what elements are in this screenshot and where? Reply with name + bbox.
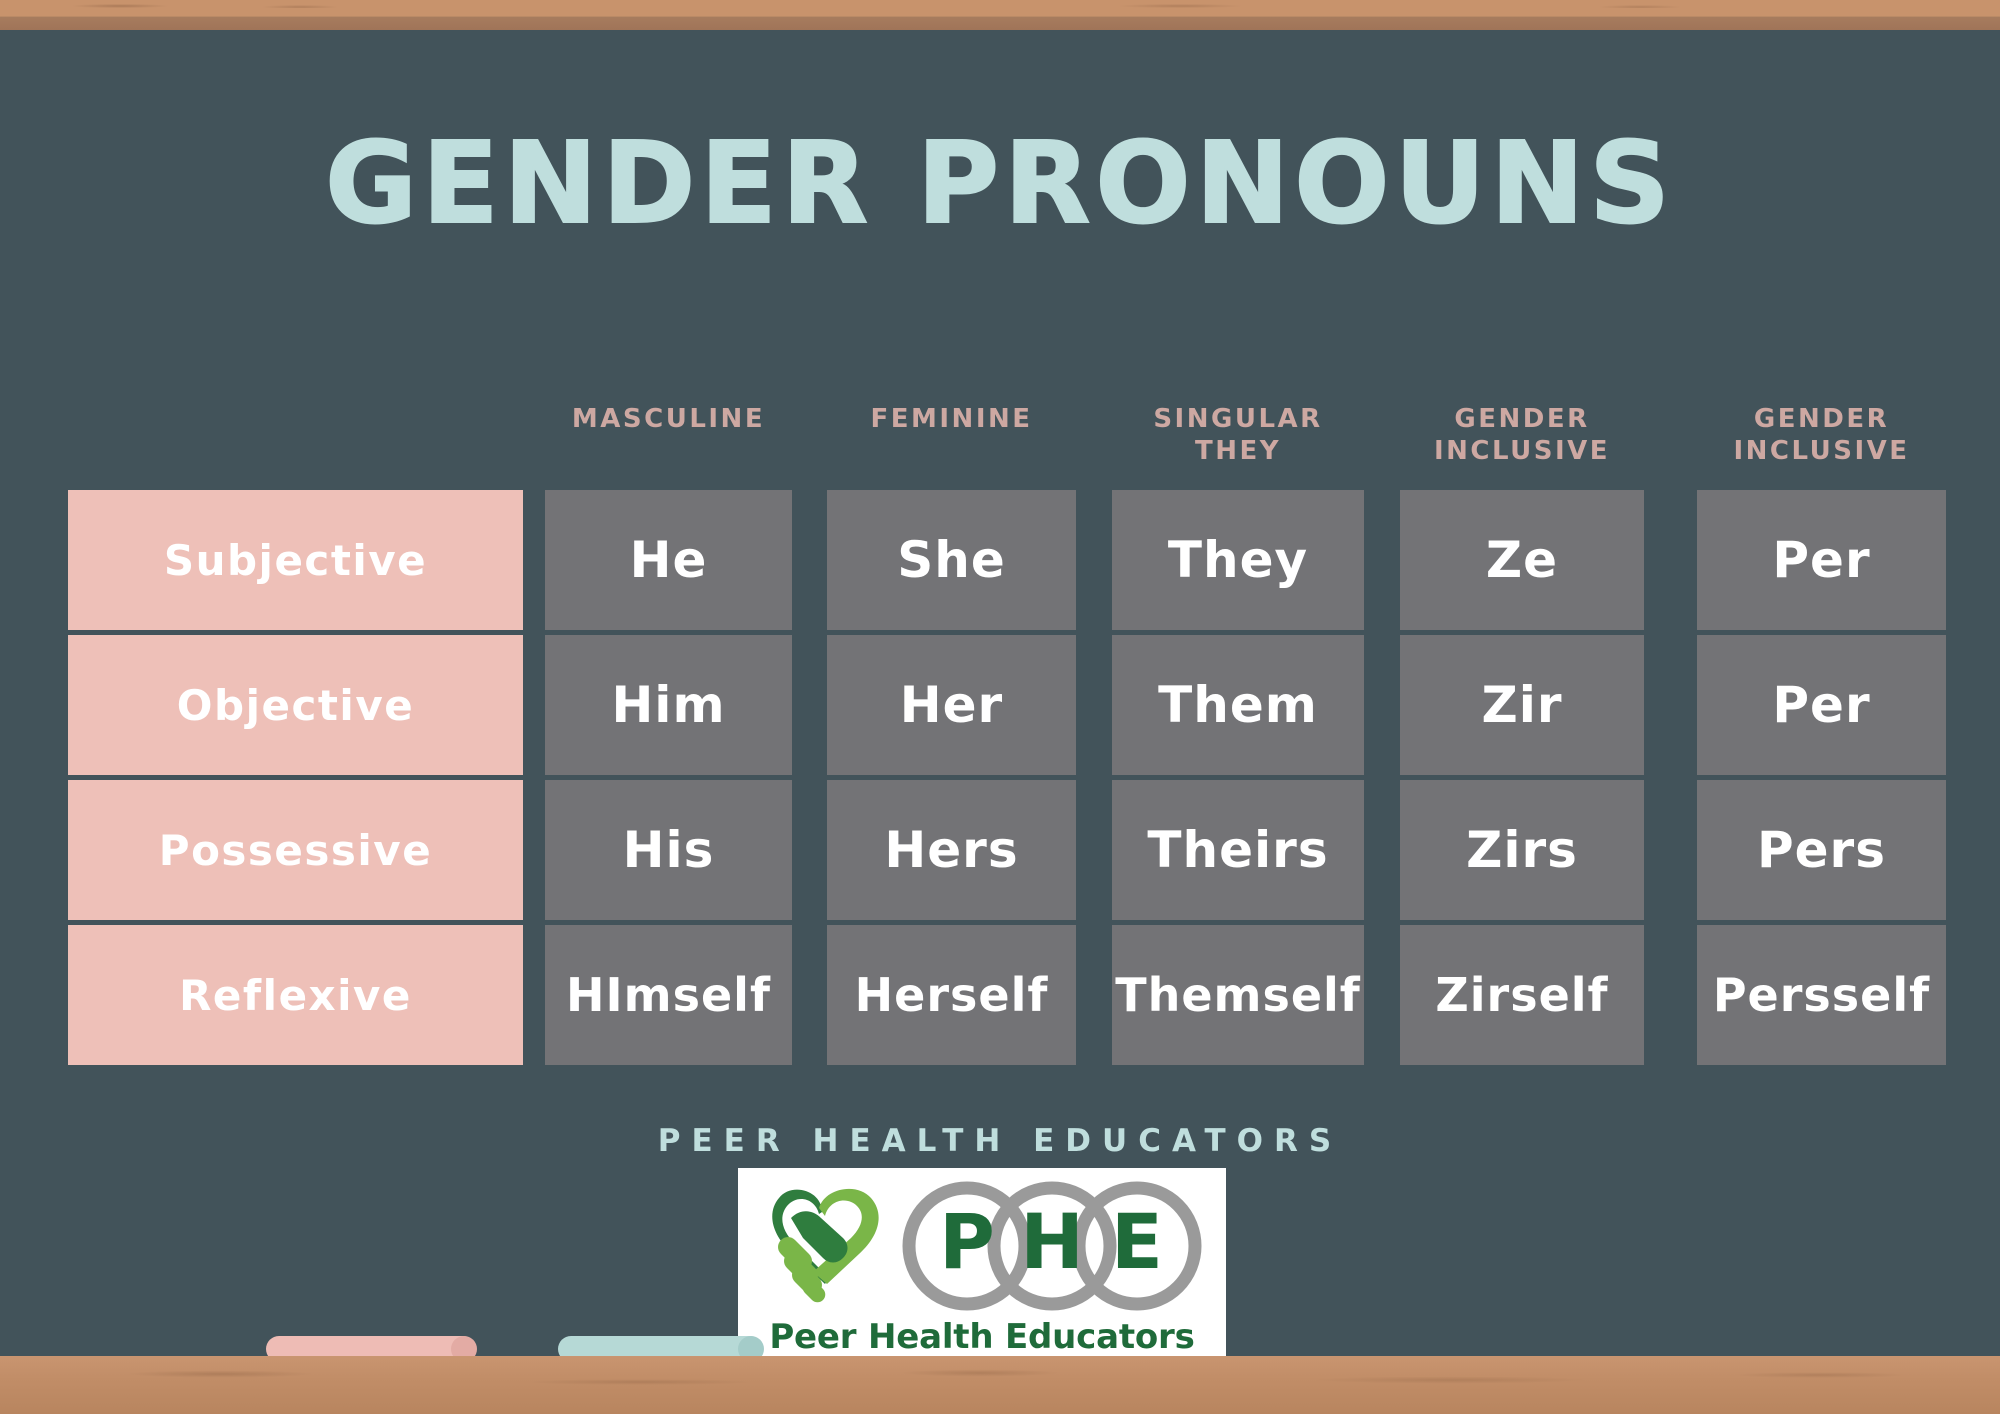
row-label-objective: Objective (68, 635, 523, 775)
phe-logo: P H E Peer Health Educators (738, 1168, 1226, 1376)
cell-possessive-ze: Zirs (1400, 780, 1644, 920)
chalkboard-top-frame (0, 0, 2000, 30)
cell-possessive-feminine: Hers (827, 780, 1076, 920)
logo-letter-p: P (939, 1197, 995, 1286)
pronoun-table: MASCULINE FEMININE SINGULARTHEY GENDERIN… (68, 400, 1948, 1070)
page-title: GENDER PRONOUNS (0, 128, 2000, 240)
handshake-heart-icon (772, 1189, 878, 1302)
cell-objective-ze: Zir (1400, 635, 1644, 775)
column-header-feminine: FEMININE (827, 400, 1076, 436)
cell-objective-masculine: Him (545, 635, 792, 775)
cell-subjective-singular-they: They (1112, 490, 1364, 630)
cell-possessive-singular-they: Theirs (1112, 780, 1364, 920)
cell-subjective-per: Per (1697, 490, 1946, 630)
cell-reflexive-ze: Zirself (1400, 925, 1644, 1065)
row-label-reflexive: Reflexive (68, 925, 523, 1065)
cell-reflexive-singular-they: Themself (1112, 925, 1364, 1065)
column-header-singular-they: SINGULARTHEY (1112, 400, 1364, 467)
cell-reflexive-feminine: Herself (827, 925, 1076, 1065)
cell-possessive-masculine: His (545, 780, 792, 920)
logo-letter-h: H (1020, 1197, 1084, 1286)
table-row: Objective Him Her Them Zir Per (68, 635, 1948, 775)
cell-subjective-feminine: She (827, 490, 1076, 630)
cell-subjective-masculine: He (545, 490, 792, 630)
logo-svg: P H E (747, 1178, 1217, 1320)
pronouns-poster: GENDER PRONOUNS MASCULINE FEMININE SINGU… (0, 0, 2000, 1414)
cell-subjective-ze: Ze (1400, 490, 1644, 630)
column-header-gender-inclusive-ze: GENDERINCLUSIVE (1400, 400, 1644, 467)
table-row: Reflexive HImself Herself Themself Zirse… (68, 925, 1948, 1065)
table-row: Possessive His Hers Theirs Zirs Pers (68, 780, 1948, 920)
column-header-gender-inclusive-per: GENDERINCLUSIVE (1697, 400, 1946, 467)
cell-reflexive-masculine: HImself (545, 925, 792, 1065)
logo-graphic: P H E (738, 1176, 1226, 1322)
column-header-masculine: MASCULINE (545, 400, 792, 436)
table-row: Subjective He She They Ze Per (68, 490, 1948, 630)
cell-possessive-per: Pers (1697, 780, 1946, 920)
table-header-row: MASCULINE FEMININE SINGULARTHEY GENDERIN… (68, 400, 1948, 490)
cell-objective-per: Per (1697, 635, 1946, 775)
row-label-subjective: Subjective (68, 490, 523, 630)
logo-wordmark: Peer Health Educators (769, 1320, 1194, 1354)
logo-letter-e: E (1111, 1197, 1163, 1286)
footer-tagline: PEER HEALTH EDUCATORS (0, 1123, 2000, 1159)
cell-objective-feminine: Her (827, 635, 1076, 775)
cell-objective-singular-they: Them (1112, 635, 1364, 775)
chalkboard-ledge (0, 1356, 2000, 1414)
cell-reflexive-per: Persself (1697, 925, 1946, 1065)
row-label-possessive: Possessive (68, 780, 523, 920)
